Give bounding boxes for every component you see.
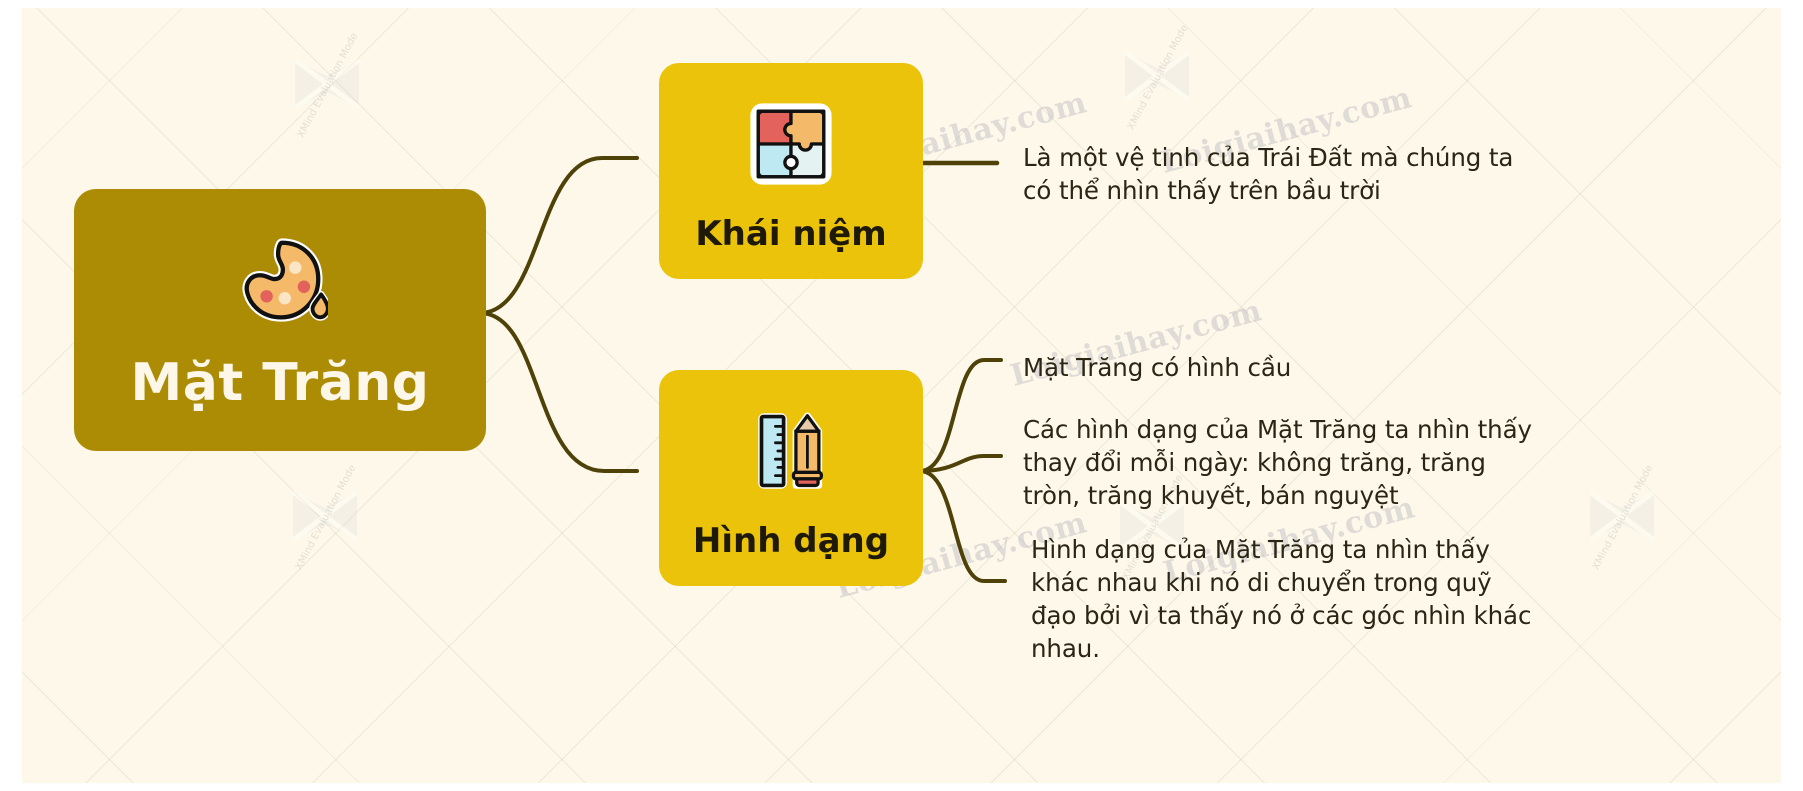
connector-root-to-khai-niem [464, 158, 637, 313]
leaf-text[interactable]: Các hình dạng của Mặt Trăng ta nhìn thấy… [1023, 413, 1543, 512]
leaf-text[interactable]: Là một vệ tinh của Trái Đất mà chúng ta … [1023, 141, 1543, 207]
mindmap-canvas[interactable]: XMind Evaluation Mode XMind Evaluation M… [22, 8, 1781, 783]
branch-node-khai-niem[interactable]: Khái niệm [659, 63, 923, 279]
puzzle-icon [750, 103, 832, 185]
mindmap-screenshot: XMind Evaluation Mode XMind Evaluation M… [0, 0, 1803, 791]
root-node-label: Mặt Trăng [130, 356, 429, 411]
xmind-watermark-label: XMind Evaluation Mode [286, 449, 366, 587]
connector-root-to-hinh-dang [464, 313, 637, 471]
root-node-mat-trang[interactable]: Mặt Trăng [74, 189, 486, 451]
branch-node-label: Khái niệm [695, 216, 886, 253]
branch-node-hinh-dang[interactable]: Hình dạng [659, 370, 923, 586]
xmind-watermark-label: XMind Evaluation Mode [1583, 449, 1663, 587]
xmind-watermark-label: XMind Evaluation Mode [1118, 9, 1198, 147]
leaf-text[interactable]: Mặt Trăng có hình cầu [1023, 351, 1543, 384]
xmind-watermark: XMind Evaluation Mode [1117, 38, 1197, 118]
xmind-watermark: XMind Evaluation Mode [287, 46, 367, 126]
xmind-watermark: XMind Evaluation Mode [285, 478, 365, 558]
branch-node-label: Hình dạng [693, 523, 889, 560]
leaf-text[interactable]: Hình dạng của Mặt Trăng ta nhìn thấy khá… [1031, 533, 1541, 665]
xmind-watermark: XMind Evaluation Mode [1582, 478, 1662, 558]
ruler-pencil-icon [750, 410, 832, 492]
palette-icon [232, 237, 328, 325]
xmind-watermark-label: XMind Evaluation Mode [288, 17, 368, 155]
